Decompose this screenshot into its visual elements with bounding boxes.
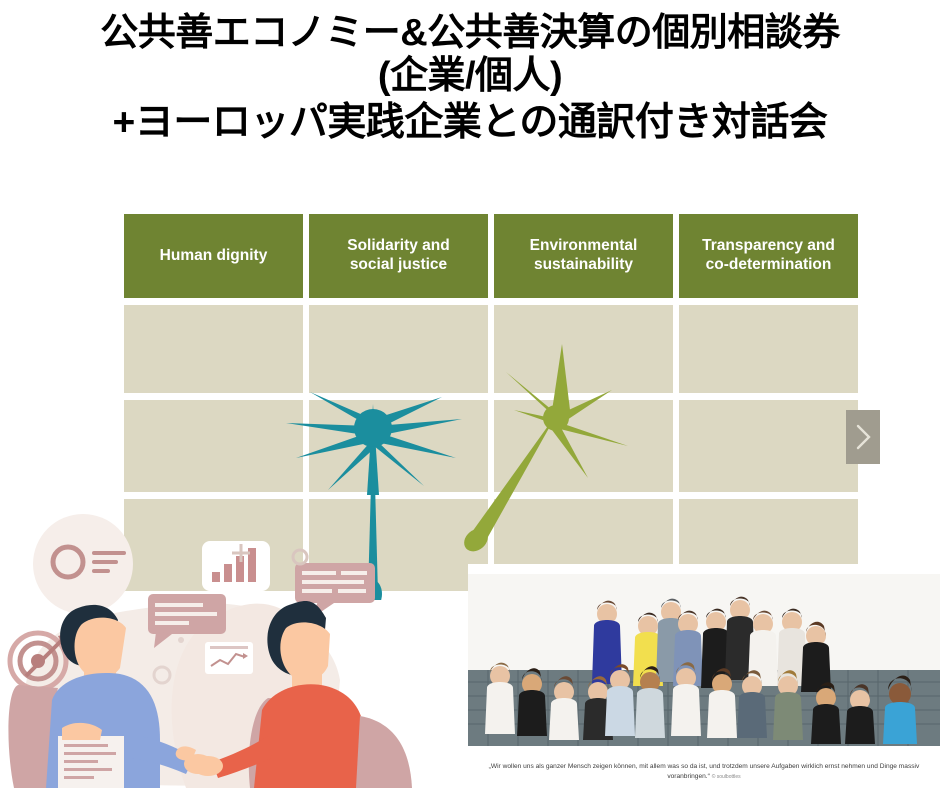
matrix-header-human-dignity: Human dignity: [124, 214, 303, 298]
matrix-header-label-a: Environmental: [530, 237, 638, 254]
target-dart-icon: [10, 633, 66, 689]
matrix-cell: [309, 400, 488, 492]
matrix-header-environmental-sustainability: Environmental sustainability: [494, 214, 673, 298]
photo-caption: „Wir wollen uns als ganzer Mensch zeigen…: [468, 762, 940, 782]
matrix-cell: [679, 400, 858, 492]
next-arrow-button[interactable]: [846, 410, 880, 464]
matrix-row: [124, 305, 858, 393]
matrix-header-row: Human dignity Solidarity and social just…: [124, 214, 858, 298]
matrix-cell: [494, 305, 673, 393]
bar-chart-card-icon: [202, 541, 270, 591]
matrix-cell: [124, 305, 303, 393]
matrix-cell: [494, 400, 673, 492]
team-photo-card: „Wir wollen uns als ganzer Mensch zeigen…: [468, 564, 940, 788]
page-title: 公共善エコノミー&公共善決算の個別相談券 (企業/個人) +ヨーロッパ実践企業と…: [0, 12, 940, 145]
team-group-photo: [468, 574, 940, 746]
photo-credit: © soulbottles: [712, 774, 741, 780]
matrix-row: [124, 400, 858, 492]
title-line-3: +ヨーロッパ実践企業との通訳付き対話会: [0, 101, 940, 145]
matrix-header-solidarity-social-justice: Solidarity and social justice: [309, 214, 488, 298]
matrix-header-label: Transparency and co-determination: [702, 237, 835, 275]
matrix-cell: [309, 305, 488, 393]
matrix-header-label-b: social justice: [350, 256, 447, 273]
title-line-1: 公共善エコノミー&公共善決算の個別相談券: [0, 12, 940, 55]
donut-chart-card-icon: [33, 514, 133, 614]
chevron-right-icon: [853, 423, 873, 451]
matrix-header-label: Solidarity and social justice: [347, 237, 450, 275]
matrix-header-label: Human dignity: [160, 247, 268, 266]
matrix-header-label-a: Solidarity and: [347, 237, 450, 254]
matrix-header-transparency-co-determination: Transparency and co-determination: [679, 214, 858, 298]
matrix-header-label-a: Transparency and: [702, 237, 835, 254]
matrix-cell: [124, 400, 303, 492]
matrix-header-label-b: co-determination: [706, 256, 832, 273]
matrix-header-label-b: sustainability: [534, 256, 633, 273]
slide-canvas: 公共善エコノミー&公共善決算の個別相談券 (企業/個人) +ヨーロッパ実践企業と…: [0, 0, 940, 788]
consultation-illustration: [0, 500, 470, 788]
line-chart-card-icon: [205, 642, 253, 674]
title-line-2: (企業/個人): [0, 55, 940, 98]
photo-caption-text: „Wir wollen uns als ganzer Mensch zeigen…: [489, 763, 920, 780]
matrix-cell: [679, 305, 858, 393]
matrix-header-label: Environmental sustainability: [530, 237, 638, 275]
